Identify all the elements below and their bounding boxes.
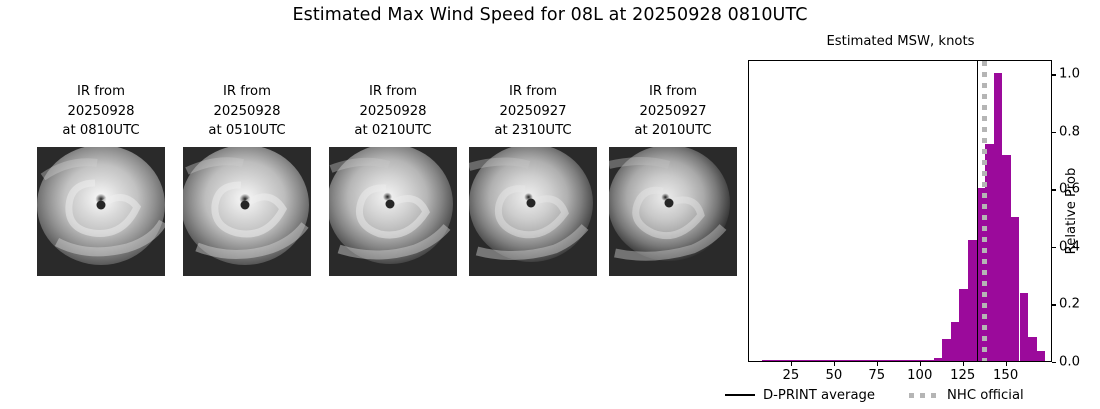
histogram-bar [951, 322, 960, 361]
histogram-bar [770, 360, 779, 361]
histogram-bar [831, 360, 840, 361]
histogram-bar [813, 360, 822, 361]
ir-satellite-image [37, 147, 165, 276]
ir-panel-0510utc: IR from 20250928 at 0510UTC [173, 82, 321, 276]
satellite-infrared-icon [329, 147, 457, 276]
y-axis-tick-label: 0.8 [1059, 124, 1080, 139]
histogram-bar [1011, 217, 1020, 361]
chart-title: Estimated MSW, knots [748, 34, 1053, 49]
histogram-bar [908, 360, 917, 361]
y-axis-tick [1052, 74, 1056, 75]
histogram-bar [779, 360, 788, 361]
plot-area [748, 60, 1052, 362]
ir-satellite-image [469, 147, 597, 276]
x-axis-tick-label: 75 [868, 368, 885, 383]
ir-panel-caption: IR from 20250928 at 0810UTC [27, 82, 175, 141]
x-axis-tick [920, 362, 921, 366]
ir-panel-0210utc: IR from 20250928 at 0210UTC [319, 82, 467, 276]
legend-label-nhc: NHC official [947, 388, 1024, 403]
nhc-official-line [982, 61, 987, 361]
y-axis-tick [1052, 304, 1056, 305]
histogram-bar [925, 360, 934, 361]
y-axis-tick [1052, 247, 1056, 248]
y-axis-tick-label: 0.2 [1059, 297, 1080, 312]
ir-satellite-image [183, 147, 311, 276]
satellite-infrared-icon [183, 147, 311, 276]
x-axis-tick-label: 50 [825, 368, 842, 383]
y-axis-tick [1052, 189, 1056, 190]
histogram-bar [762, 360, 771, 361]
histogram-bar [865, 360, 874, 361]
histogram-bar [934, 358, 943, 361]
ir-satellite-image [329, 147, 457, 276]
y-axis-tick-label: 0.0 [1059, 355, 1080, 370]
histogram-bar [916, 360, 925, 361]
y-axis-tick [1052, 132, 1056, 133]
ir-panel-2010utc: IR from 20250927 at 2010UTC [599, 82, 747, 276]
legend-entry-nhc: NHC official [909, 388, 1024, 403]
x-axis-tick-label: 25 [783, 368, 800, 383]
x-axis-tick [877, 362, 878, 366]
x-axis-tick-label: 150 [993, 368, 1018, 383]
x-axis-tick [963, 362, 964, 366]
ir-panel-0810utc: IR from 20250928 at 0810UTC [27, 82, 175, 276]
histogram-bar [796, 360, 805, 361]
satellite-infrared-icon [469, 147, 597, 276]
chart-legend: D-PRINT average NHC official [725, 383, 1085, 407]
y-axis-tick-label: 0.4 [1059, 239, 1080, 254]
histogram-bar [977, 188, 986, 361]
ir-panel-caption: IR from 20250927 at 2310UTC [459, 82, 607, 141]
y-axis-tick-label: 1.0 [1059, 67, 1080, 82]
page-title: Estimated Max Wind Speed for 08L at 2025… [0, 5, 1100, 25]
x-axis-tick-label: 125 [950, 368, 975, 383]
x-axis-tick [1006, 362, 1007, 366]
histogram-bar [1037, 351, 1046, 361]
ir-panel-2310utc: IR from 20250927 at 2310UTC [459, 82, 607, 276]
histogram-bar [899, 360, 908, 361]
solid-line-swatch-icon [725, 394, 755, 396]
legend-entry-dprint: D-PRINT average [725, 388, 875, 403]
histogram-bar [882, 360, 891, 361]
x-axis-tick-label: 100 [907, 368, 932, 383]
ir-panel-caption: IR from 20250928 at 0510UTC [173, 82, 321, 141]
histogram-bar [942, 339, 951, 361]
y-axis-tick-label: 0.6 [1059, 182, 1080, 197]
histogram-bar [1020, 293, 1029, 361]
histogram-bar [959, 289, 968, 361]
y-axis-tick [1052, 362, 1056, 363]
dotted-line-swatch-icon [909, 393, 939, 398]
histogram-bar [1028, 337, 1037, 361]
histogram-bar [994, 73, 1003, 361]
satellite-infrared-icon [37, 147, 165, 276]
histogram-bar [856, 360, 865, 361]
ir-satellite-image [609, 147, 737, 276]
ir-panel-caption: IR from 20250927 at 2010UTC [599, 82, 747, 141]
x-axis-tick [791, 362, 792, 366]
histogram-bar [848, 360, 857, 361]
histogram-bar [788, 360, 797, 361]
histogram-bar [874, 360, 883, 361]
x-axis-tick [834, 362, 835, 366]
histogram-bar [822, 360, 831, 361]
histogram-bar [1002, 155, 1011, 361]
histogram-bar [985, 144, 994, 361]
ir-panel-caption: IR from 20250928 at 0210UTC [319, 82, 467, 141]
histogram-bar [805, 360, 814, 361]
histogram-bar [891, 360, 900, 361]
y-axis-label: Relative Prob [1064, 168, 1079, 255]
histogram-bar [839, 360, 848, 361]
satellite-infrared-icon [609, 147, 737, 276]
legend-label-dprint: D-PRINT average [763, 388, 875, 403]
histogram-bar [968, 240, 977, 361]
dprint-average-line [977, 61, 979, 361]
